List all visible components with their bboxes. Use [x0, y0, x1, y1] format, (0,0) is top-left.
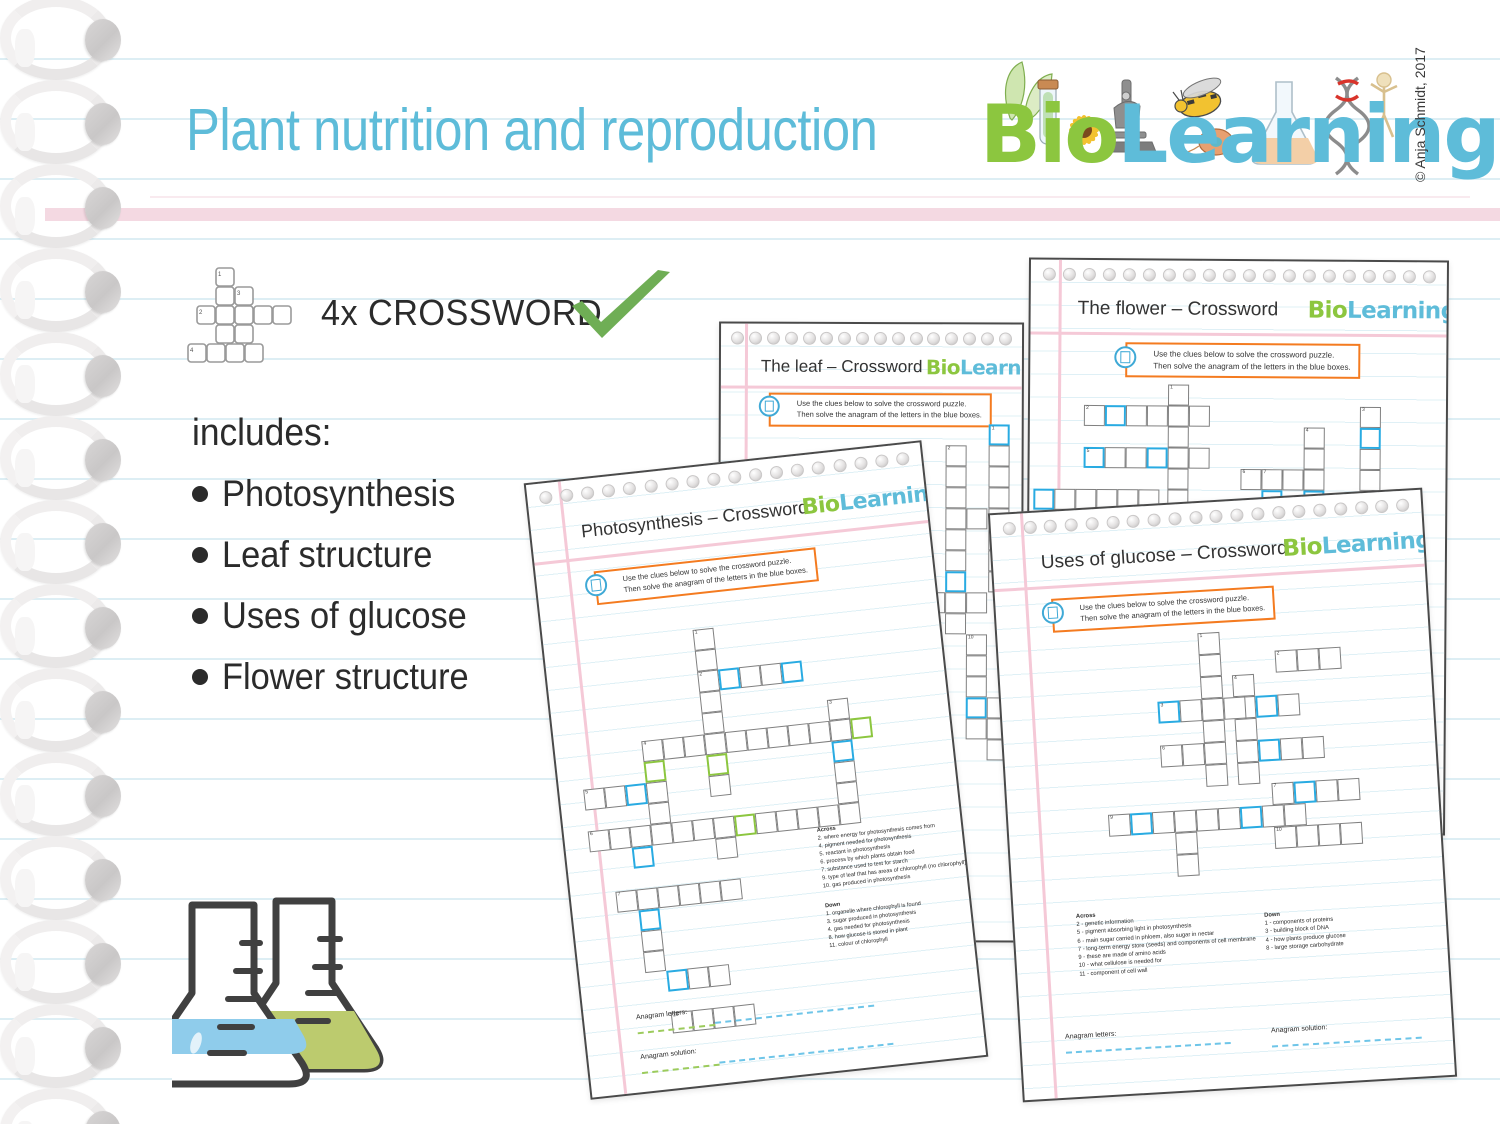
- bullet-icon: [192, 486, 208, 502]
- anagram-solution-label: Anagram solution:: [640, 1048, 697, 1061]
- pink-rule-band: [45, 208, 1500, 221]
- clues-across: Across 2 - genetic information 5 - pigme…: [1076, 902, 1258, 978]
- list-item: Uses of glucose: [192, 595, 487, 637]
- list-item: Flower structure: [192, 656, 487, 698]
- sheet-title: The leaf – Crossword: [761, 357, 923, 378]
- logo-bio-text: Bio: [980, 88, 1117, 181]
- anagram-solution-label: Anagram solution:: [1271, 1024, 1328, 1034]
- anagram-letters-rule[interactable]: [1066, 1042, 1231, 1054]
- bullet-icon: [192, 547, 208, 563]
- clues-down: Down 1 - components of proteins 3 - buil…: [1264, 907, 1347, 953]
- bullet-icon: [192, 669, 208, 685]
- list-item-label: Flower structure: [222, 656, 469, 698]
- list-item-label: Leaf structure: [222, 534, 432, 576]
- instruction-box: Use the clues below to solve the crosswo…: [1125, 342, 1361, 379]
- anagram-letters-label: Anagram letters:: [1065, 1031, 1117, 1041]
- instruction-box: Use the clues below to solve the crosswo…: [769, 393, 992, 428]
- sheet-logo: BioLearning!: [1308, 297, 1449, 324]
- anagram-solution-rule[interactable]: [1272, 1037, 1422, 1048]
- crossword-grid-icon: 1 3 2 4: [186, 266, 306, 366]
- page-title: Plant nutrition and reproduction: [186, 96, 877, 164]
- pink-rule-faint: [150, 196, 1470, 198]
- note-pencil-icon: [1114, 346, 1136, 368]
- sheet-logo: BioLearning!: [926, 355, 1024, 379]
- note-pencil-icon: [759, 396, 780, 417]
- includes-heading: includes:: [192, 412, 467, 455]
- crossword-count-label: 4x CROSSWORD: [321, 292, 602, 334]
- flasks-illustration: [172, 893, 402, 1108]
- sheet-logo: BioLearning!: [1282, 527, 1442, 562]
- punch-holes: [721, 327, 1022, 348]
- sheet-title: The flower – Crossword: [1078, 298, 1279, 321]
- cover-page: Plant nutrition and reproduction: [0, 0, 1500, 1124]
- sheet-title: Uses of glucose – Crossword: [1040, 538, 1288, 575]
- list-item: Photosynthesis: [192, 473, 487, 515]
- green-check-icon: [566, 268, 676, 348]
- anagram-solution-rule[interactable]: [719, 1043, 893, 1064]
- includes-section: includes: Photosynthesis Leaf structure …: [192, 412, 487, 717]
- biolearning-logo: BioLearning: [980, 58, 1410, 193]
- list-item: Leaf structure: [192, 534, 487, 576]
- bullet-icon: [192, 608, 208, 624]
- list-item-label: Uses of glucose: [222, 595, 467, 637]
- logo-learning-text: Learning: [1117, 88, 1498, 181]
- anagram-solution-rule-green[interactable]: [642, 1064, 720, 1074]
- copyright-notice: © Anja Schmidt, 2017: [1412, 47, 1428, 182]
- instruction-box: Use the clues below to solve the crosswo…: [594, 547, 819, 605]
- spiral-binding: [0, 0, 144, 1124]
- sheet-header-rule: [721, 385, 1022, 389]
- worksheet-preview-photosynthesis[interactable]: Photosynthesis – Crossword BioLearning! …: [524, 440, 989, 1100]
- instruction-box: Use the clues below to solve the crosswo…: [1051, 586, 1276, 633]
- worksheet-preview-glucose[interactable]: Uses of glucose – Crossword BioLearning!…: [988, 488, 1457, 1103]
- crossword-grid[interactable]: 1 2 10: [721, 323, 1022, 324]
- sheet-header-rule: [1030, 332, 1446, 338]
- crossword-grid[interactable]: 1 2 3 4 5 6: [1031, 260, 1447, 263]
- punch-holes: [1031, 264, 1447, 287]
- list-item-label: Photosynthesis: [222, 473, 455, 515]
- clues-down: Down 1. organelle where chlorophyll is f…: [825, 893, 925, 951]
